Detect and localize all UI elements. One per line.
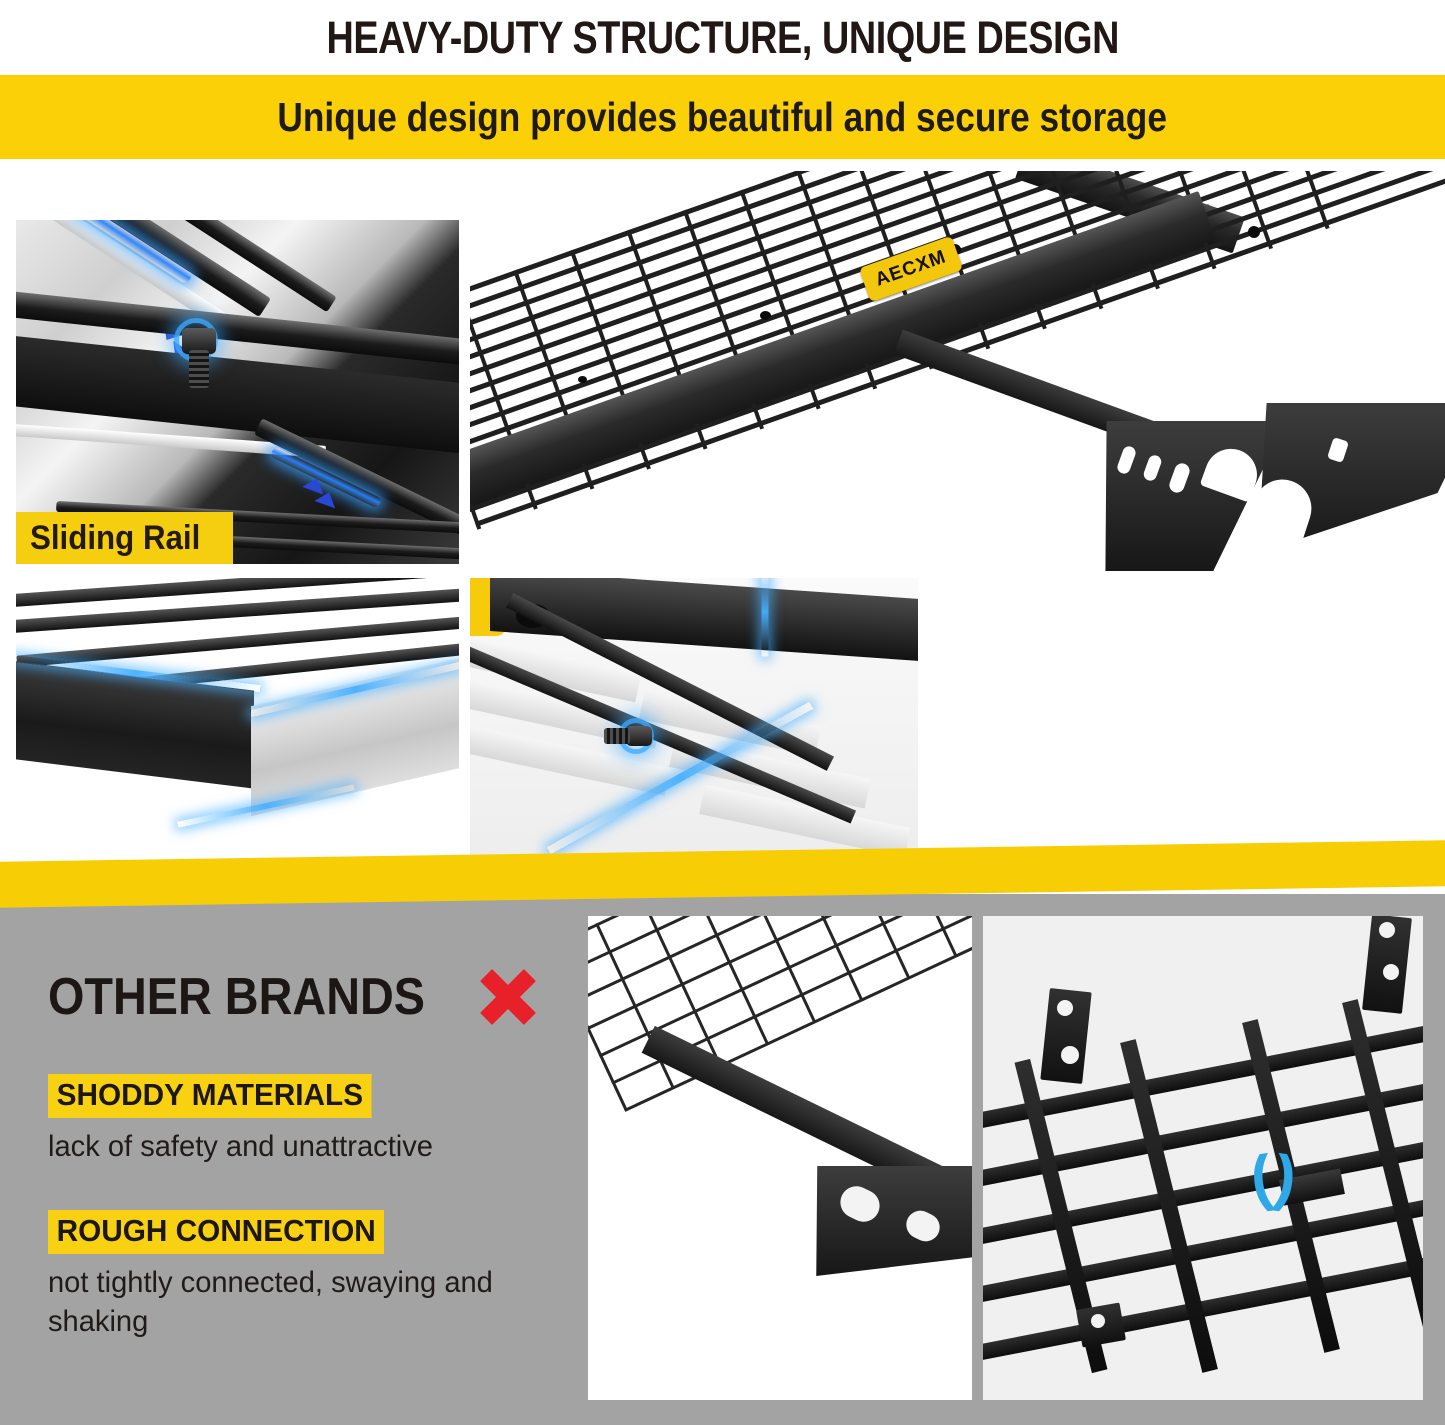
screw-hole	[578, 376, 587, 383]
bolt-detail-scene	[470, 578, 918, 868]
direction-chevron-icon	[314, 489, 339, 509]
defect-block: SHODDY MATERIALS lack of safety and unat…	[48, 1074, 568, 1166]
edge-face-side	[251, 658, 459, 816]
sliding-rail-caption-label: Sliding Rail	[30, 519, 200, 558]
other-brands-heading-row: OTHER BRANDS	[48, 964, 568, 1030]
competitor-mesh-scene	[588, 916, 972, 1400]
photo-bolt-connection-detail	[470, 578, 918, 868]
sliding-rail-caption-badge: Sliding Rail	[16, 512, 233, 564]
photo-rounded-edge-detail	[16, 578, 459, 868]
comparison-copy-block: OTHER BRANDS SHODDY MATERIALS lack of sa…	[48, 964, 568, 1341]
photo-main-product-shelf: AECXM	[470, 171, 1445, 571]
page-title: HEAVY-DUTY STRUCTURE, UNIQUE DESIGN	[326, 12, 1118, 64]
comparison-section: OTHER BRANDS SHODDY MATERIALS lack of sa…	[0, 894, 1445, 1425]
defect-block: ROUGH CONNECTION not tightly connected, …	[48, 1210, 568, 1341]
defect-tag: SHODDY MATERIALS	[48, 1074, 372, 1118]
screw-hole	[1248, 226, 1260, 238]
mount-hole	[1091, 1314, 1105, 1328]
x-mark-icon	[475, 964, 541, 1030]
defect-description: lack of safety and unattractive	[48, 1128, 552, 1166]
top-photo-gallery: Sliding Rail	[0, 159, 1445, 881]
photo-sliding-rail-detail: Sliding Rail	[16, 220, 459, 564]
main-product-scene: AECXM	[470, 171, 1445, 571]
defect-tag: ROUGH CONNECTION	[48, 1210, 384, 1254]
other-brands-heading: OTHER BRANDS	[48, 967, 425, 1027]
photo-competitor-flat-bars: ( (	[983, 916, 1423, 1400]
bolt-shaft	[189, 350, 209, 388]
bolt-shaft	[604, 728, 630, 744]
competitor-bars-scene: ( (	[983, 916, 1423, 1400]
mount-hole	[1383, 964, 1399, 980]
subtitle-text: Unique design provides beautiful and sec…	[278, 94, 1168, 141]
edge-detail-scene	[16, 578, 459, 868]
mount-hole	[1061, 1046, 1079, 1064]
photo-competitor-wire-mesh	[588, 916, 972, 1400]
screw-hole	[760, 311, 771, 320]
mount-hole	[1379, 922, 1395, 938]
subtitle-band: Unique design provides beautiful and sec…	[0, 75, 1445, 159]
header-title-bar: HEAVY-DUTY STRUCTURE, UNIQUE DESIGN	[0, 0, 1445, 75]
mount-hole	[1057, 1000, 1073, 1016]
defect-description: not tightly connected, swaying and shaki…	[48, 1264, 552, 1341]
connection-glow	[762, 578, 769, 657]
